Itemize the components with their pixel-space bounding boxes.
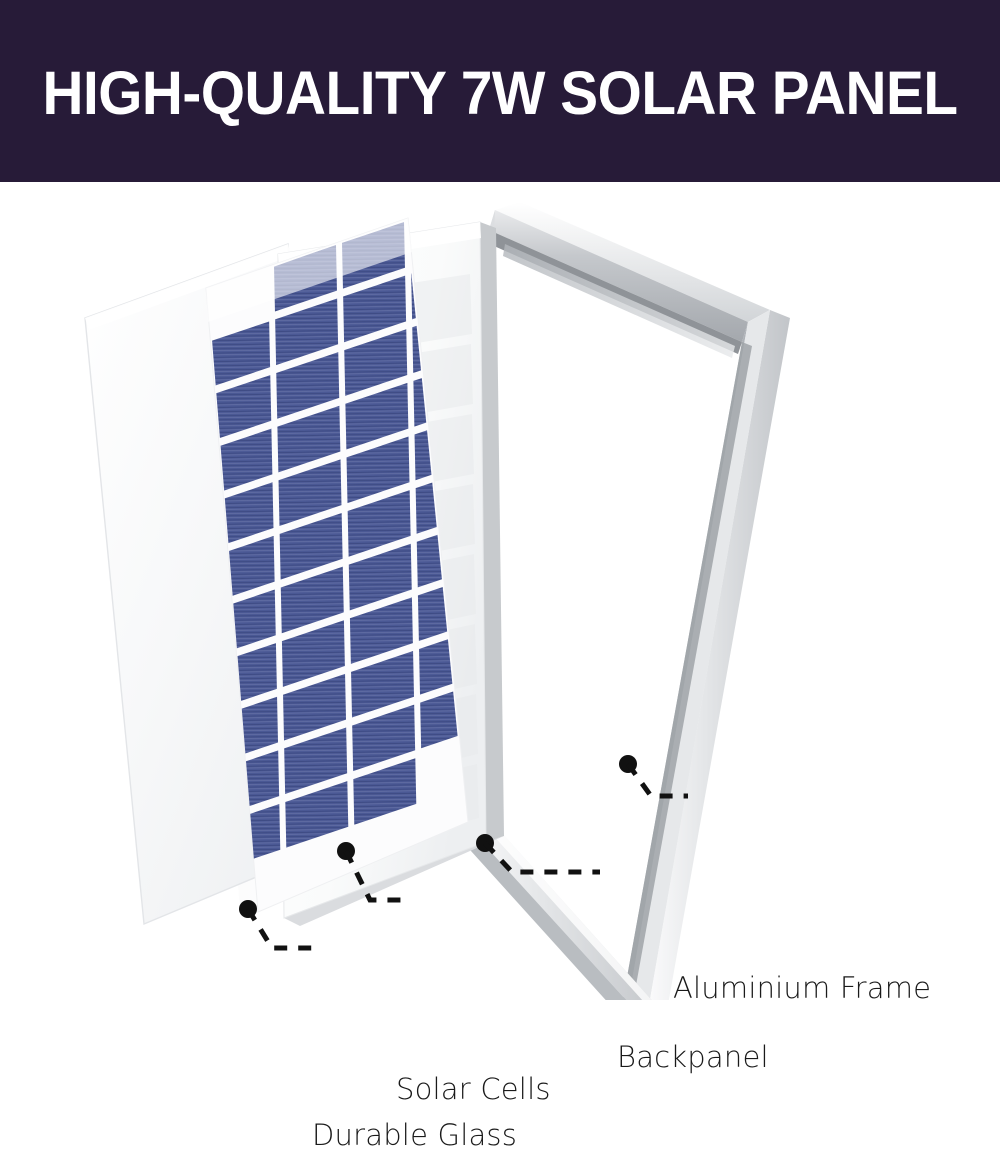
product-diagram-stage: Aluminium Frame Backpanel Solar Cells Du…: [0, 182, 1000, 1000]
header-banner: HIGH-QUALITY 7W SOLAR PANEL: [0, 0, 1000, 182]
callout-label-solar-cells: Solar Cells: [396, 1072, 551, 1106]
callout-label-backpanel: Backpanel: [617, 1040, 769, 1074]
callout-label-durable-glass: Durable Glass: [312, 1118, 517, 1152]
layer-aluminium-frame: [452, 202, 790, 1000]
product-banner-page: HIGH-QUALITY 7W SOLAR PANEL: [0, 0, 1000, 1000]
page-title: HIGH-QUALITY 7W SOLAR PANEL: [35, 0, 965, 182]
solar-panel-exploded-diagram: [0, 182, 1000, 1000]
